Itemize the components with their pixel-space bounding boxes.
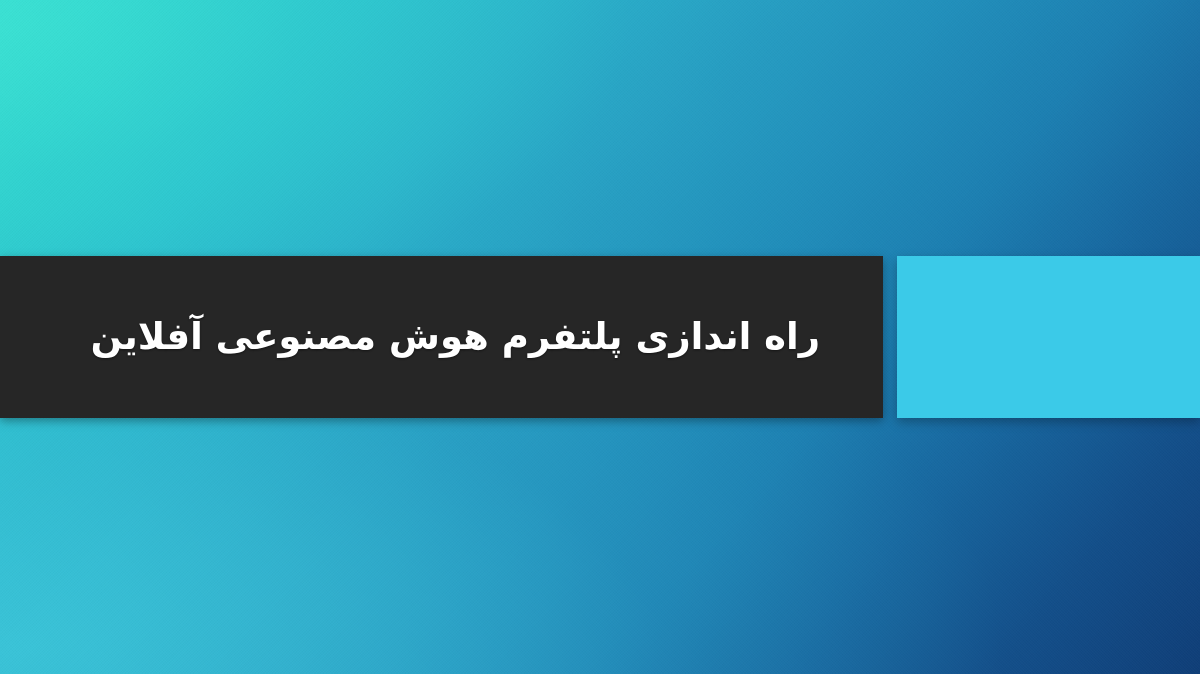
- accent-block: [897, 256, 1200, 418]
- slide-title: راه اندازی پلتفرم هوش مصنوعی آفلاین: [91, 314, 820, 360]
- title-band: راه اندازی پلتفرم هوش مصنوعی آفلاین: [0, 256, 883, 418]
- presentation-slide: راه اندازی پلتفرم هوش مصنوعی آفلاین: [0, 0, 1200, 674]
